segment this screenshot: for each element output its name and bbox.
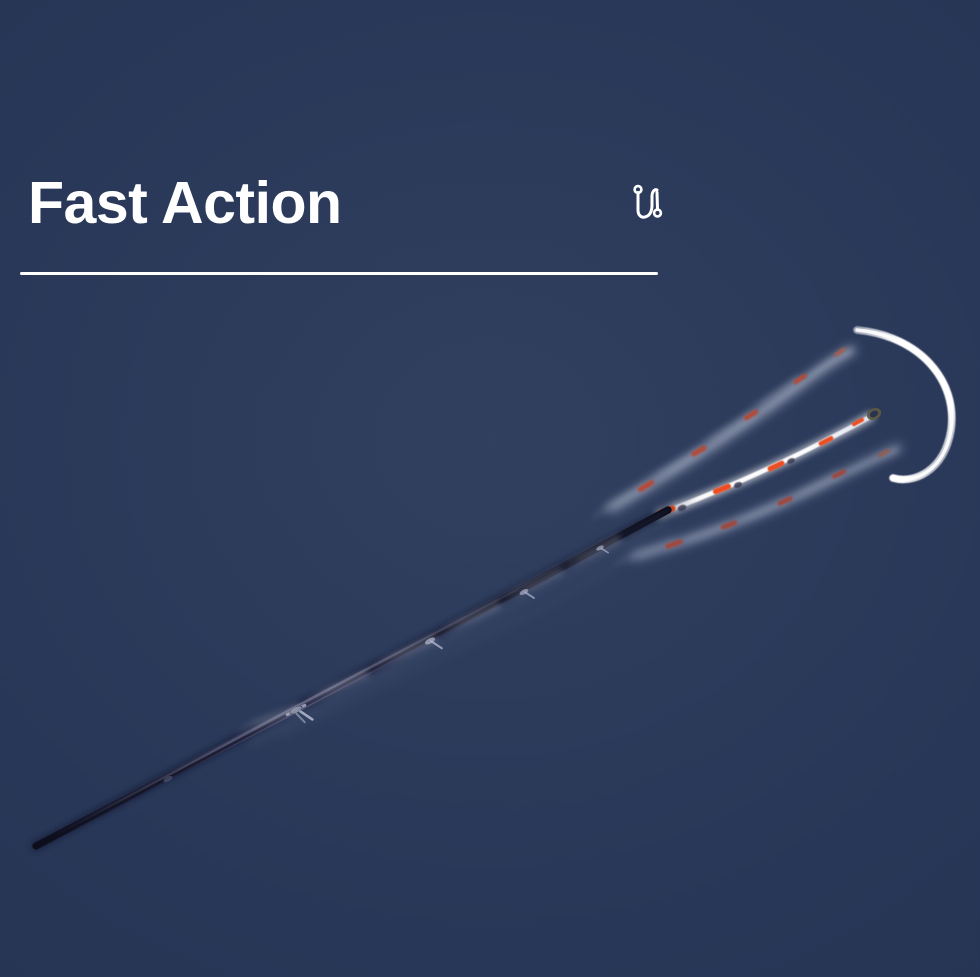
rod-flex-curve-icon [630,183,664,223]
fast-action-banner: Fast Action [0,0,980,977]
rod-illustration [0,0,980,977]
rod-illustration-svg [0,0,980,977]
title-row: Fast Action [28,163,668,243]
ghost-tip-upper [590,347,852,522]
ghost-tip-lower [613,448,898,568]
page-title: Fast Action [28,174,342,233]
title-divider [20,272,658,275]
